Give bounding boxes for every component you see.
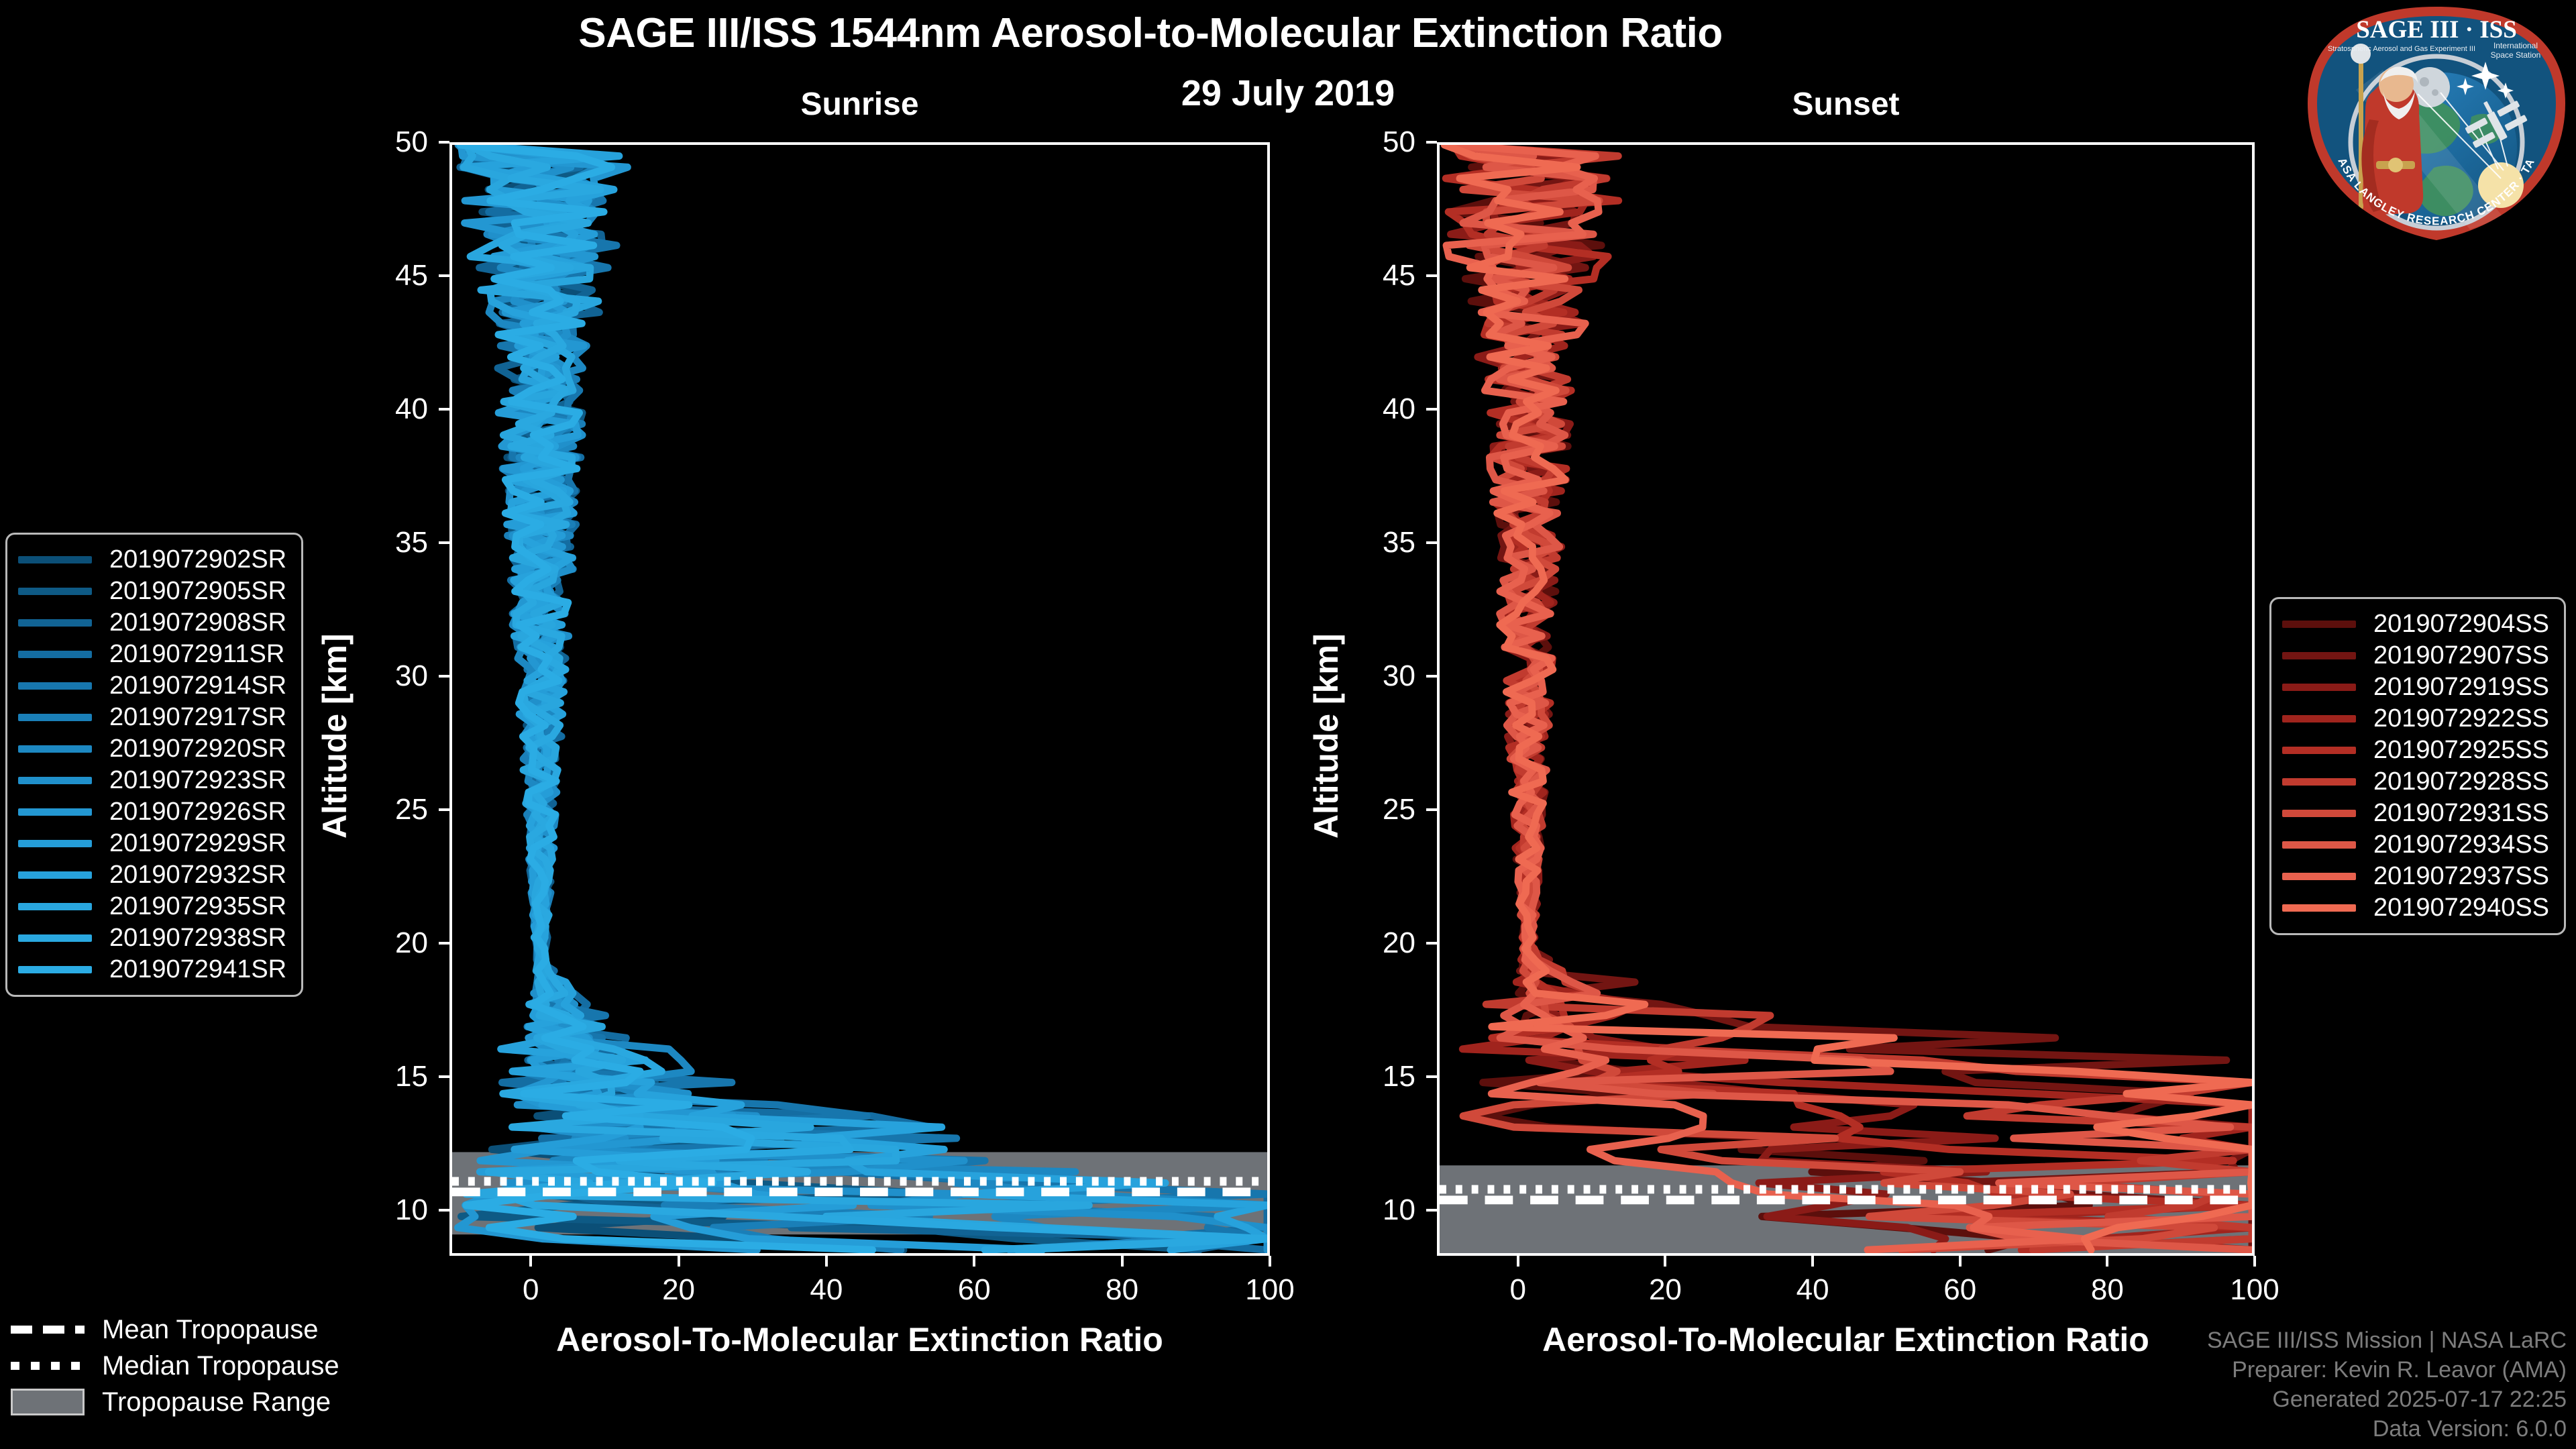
legend-item[interactable]: 2019072938SR (18, 922, 286, 954)
x-tick-mark (678, 1256, 680, 1267)
legend-item-label: 2019072920SR (109, 735, 286, 763)
legend-color-swatch (18, 556, 92, 563)
sunset-legend[interactable]: 2019072904SS 2019072907SS 2019072919SS 2… (2269, 597, 2566, 935)
legend-item-label: 2019072926SR (109, 798, 286, 826)
legend-color-swatch (2282, 652, 2356, 659)
legend-item-label: 2019072914SR (109, 672, 286, 700)
legend-color-swatch (2282, 747, 2356, 754)
y-tick-mark (1426, 541, 1437, 544)
legend-item[interactable]: 2019072922SS (2282, 703, 2549, 735)
x-tick-mark (2106, 1256, 2108, 1267)
legend-item-label: 2019072908SR (109, 608, 286, 637)
legend-item-label: 2019072938SR (109, 924, 286, 953)
legend-item[interactable]: 2019072914SR (18, 670, 286, 702)
credits-line: Generated 2025-07-17 22:25 (2207, 1385, 2567, 1414)
legend-color-swatch (2282, 715, 2356, 722)
y-tick-label: 20 (1322, 926, 1415, 960)
x-tick-label: 100 (2194, 1273, 2315, 1307)
y-tick-label: 15 (1322, 1060, 1415, 1093)
legend-color-swatch (2282, 684, 2356, 691)
y-tick-mark (439, 408, 449, 411)
legend-item-label: 2019072932SR (109, 861, 286, 890)
legend-color-swatch (18, 777, 92, 784)
logo-subtitle-right-1: International (2493, 41, 2538, 50)
y-tick-mark (439, 141, 449, 144)
legend-item-label: 2019072931SS (2373, 799, 2549, 828)
legend-item-label: 2019072925SS (2373, 736, 2549, 765)
tropopause-range-swatch (11, 1389, 85, 1415)
y-tick-label: 45 (334, 259, 428, 292)
logo-subtitle-right-2: Space Station (2491, 50, 2541, 60)
legend-item[interactable]: 2019072917SR (18, 702, 286, 733)
credits-block: SAGE III/ISS Mission | NASA LaRCPreparer… (2207, 1326, 2567, 1444)
legend-item[interactable]: 2019072929SR (18, 828, 286, 859)
credits-line: Preparer: Kevin R. Leavor (AMA) (2207, 1355, 2567, 1385)
legend-item-label: 2019072937SS (2373, 862, 2549, 891)
legend-item-label: 2019072904SS (2373, 610, 2549, 639)
legend-item-label: 2019072919SS (2373, 673, 2549, 702)
x-tick-label: 40 (1752, 1273, 1873, 1307)
sunset-y-axis-title: Altitude [km] (1307, 633, 1346, 839)
legend-color-swatch (2282, 810, 2356, 817)
y-tick-mark (439, 541, 449, 544)
sage-mission-patch-logo: SAGE III · ISS Stratospheric Aerosol and… (2302, 3, 2571, 244)
y-tick-mark (1426, 675, 1437, 678)
legend-item[interactable]: 2019072931SS (2282, 798, 2549, 829)
legend-item[interactable]: 2019072920SR (18, 733, 286, 765)
y-tick-label: 10 (1322, 1193, 1415, 1227)
x-tick-label: 20 (1605, 1273, 1725, 1307)
y-tick-mark (1426, 1209, 1437, 1212)
y-tick-mark (1426, 942, 1437, 945)
y-tick-mark (439, 1075, 449, 1078)
y-tick-mark (439, 675, 449, 678)
tropopause-legend-label: Mean Tropopause (102, 1315, 318, 1345)
y-tick-mark (439, 1209, 449, 1212)
x-tick-mark (529, 1256, 532, 1267)
legend-color-swatch (2282, 904, 2356, 912)
y-tick-mark (439, 274, 449, 277)
y-tick-label: 15 (334, 1060, 428, 1093)
x-tick-mark (1959, 1256, 1962, 1267)
y-tick-label: 40 (1322, 392, 1415, 426)
x-tick-label: 80 (2047, 1273, 2167, 1307)
legend-item[interactable]: 2019072935SR (18, 891, 286, 922)
y-tick-mark (1426, 808, 1437, 811)
y-tick-label: 45 (1322, 259, 1415, 292)
legend-color-swatch (2282, 778, 2356, 786)
legend-color-swatch (18, 651, 92, 658)
x-tick-mark (2253, 1256, 2256, 1267)
legend-color-swatch (2282, 873, 2356, 880)
sunrise-profile-chart (452, 145, 1267, 1253)
legend-color-swatch (2282, 841, 2356, 849)
x-tick-mark (1664, 1256, 1666, 1267)
x-tick-mark (1517, 1256, 1519, 1267)
legend-item[interactable]: 2019072907SS (2282, 640, 2549, 672)
legend-color-swatch (18, 588, 92, 595)
x-tick-label: 0 (470, 1273, 591, 1307)
legend-color-swatch (18, 682, 92, 690)
sunset-panel-title: Sunset (1437, 86, 2255, 123)
x-tick-label: 100 (1210, 1273, 1330, 1307)
legend-item-label: 2019072941SR (109, 955, 286, 984)
y-tick-mark (1426, 1075, 1437, 1078)
tropopause-legend[interactable]: Mean Tropopause Median Tropopause Tropop… (11, 1311, 339, 1420)
legend-color-swatch (2282, 621, 2356, 628)
legend-item-label: 2019072905SR (109, 577, 286, 606)
legend-item-label: 2019072911SR (109, 640, 284, 669)
legend-item[interactable]: 2019072940SS (2282, 892, 2549, 924)
legend-color-swatch (18, 619, 92, 627)
tropopause-legend-item[interactable]: Median Tropopause (11, 1348, 339, 1384)
y-tick-mark (1426, 141, 1437, 144)
legend-item[interactable]: 2019072911SR (18, 639, 286, 670)
legend-item[interactable]: 2019072908SR (18, 607, 286, 639)
legend-color-swatch (18, 808, 92, 816)
legend-item[interactable]: 2019072902SR (18, 544, 286, 576)
legend-color-swatch (18, 871, 92, 879)
x-tick-label: 60 (914, 1273, 1034, 1307)
x-tick-mark (973, 1256, 975, 1267)
legend-item[interactable]: 2019072919SS (2282, 672, 2549, 703)
legend-item-label: 2019072902SR (109, 545, 286, 574)
y-tick-label: 50 (1322, 125, 1415, 159)
logo-subtitle-left: Stratospheric Aerosol and Gas Experiment… (2328, 45, 2475, 53)
tropopause-legend-item[interactable]: Mean Tropopause (11, 1311, 339, 1348)
x-tick-label: 20 (619, 1273, 739, 1307)
credits-line: Data Version: 6.0.0 (2207, 1414, 2567, 1444)
y-tick-label: 35 (1322, 526, 1415, 559)
x-tick-mark (825, 1256, 828, 1267)
legend-color-swatch (18, 966, 92, 973)
legend-item-label: 2019072934SS (2373, 830, 2549, 859)
legend-item-label: 2019072928SS (2373, 767, 2549, 796)
dotted-line-swatch (11, 1362, 85, 1370)
legend-color-swatch (18, 745, 92, 753)
legend-color-swatch (18, 714, 92, 721)
x-tick-label: 80 (1062, 1273, 1183, 1307)
y-tick-label: 50 (334, 125, 428, 159)
sunset-x-axis-title: Aerosol-To-Molecular Extinction Ratio (1437, 1320, 2255, 1359)
credits-line: SAGE III/ISS Mission | NASA LaRC (2207, 1326, 2567, 1355)
legend-item-label: 2019072923SR (109, 766, 286, 795)
legend-item-label: 2019072917SR (109, 703, 286, 732)
y-tick-label: 40 (334, 392, 428, 426)
x-tick-mark (1811, 1256, 1814, 1267)
y-tick-mark (1426, 408, 1437, 411)
legend-item[interactable]: 2019072926SR (18, 796, 286, 828)
legend-item[interactable]: 2019072928SS (2282, 766, 2549, 798)
legend-item-label: 2019072922SS (2373, 704, 2549, 733)
y-tick-mark (439, 942, 449, 945)
legend-color-swatch (18, 903, 92, 910)
tropopause-legend-label: Tropopause Range (102, 1387, 331, 1417)
x-tick-label: 60 (1900, 1273, 2021, 1307)
sunrise-x-axis-title: Aerosol-To-Molecular Extinction Ratio (449, 1320, 1270, 1359)
legend-item[interactable]: 2019072937SS (2282, 861, 2549, 892)
x-tick-mark (1269, 1256, 1271, 1267)
dashed-line-swatch (11, 1326, 85, 1334)
legend-item[interactable]: 2019072923SR (18, 765, 286, 796)
x-tick-label: 0 (1458, 1273, 1578, 1307)
legend-item[interactable]: 2019072932SR (18, 859, 286, 891)
legend-item-label: 2019072940SS (2373, 894, 2549, 922)
legend-item[interactable]: 2019072941SR (18, 954, 286, 985)
tropopause-legend-label: Median Tropopause (102, 1351, 339, 1381)
sunset-plot-panel[interactable] (1437, 142, 2255, 1256)
sunrise-legend[interactable]: 2019072902SR 2019072905SR 2019072908SR 2… (5, 533, 303, 997)
legend-color-swatch (18, 840, 92, 847)
legend-item[interactable]: 2019072934SS (2282, 829, 2549, 861)
legend-item-label: 2019072935SR (109, 892, 286, 921)
page-title: SAGE III/ISS 1544nm Aerosol-to-Molecular… (0, 9, 2301, 57)
sunset-profile-chart (1440, 145, 2252, 1253)
legend-color-swatch (18, 934, 92, 942)
sunrise-y-axis-title: Altitude [km] (315, 633, 354, 839)
legend-item-label: 2019072929SR (109, 829, 286, 858)
y-tick-label: 10 (334, 1193, 428, 1227)
tropopause-legend-item[interactable]: Tropopause Range (11, 1384, 339, 1420)
legend-item[interactable]: 2019072904SS (2282, 608, 2549, 640)
legend-item[interactable]: 2019072925SS (2282, 735, 2549, 766)
logo-title: SAGE III · ISS (2356, 16, 2517, 44)
sunrise-panel-title: Sunrise (449, 86, 1270, 123)
y-tick-label: 20 (334, 926, 428, 960)
y-tick-mark (439, 808, 449, 811)
y-tick-label: 35 (334, 526, 428, 559)
legend-item[interactable]: 2019072905SR (18, 576, 286, 607)
x-tick-mark (1121, 1256, 1124, 1267)
legend-item-label: 2019072907SS (2373, 641, 2549, 670)
x-tick-label: 40 (766, 1273, 887, 1307)
y-tick-mark (1426, 274, 1437, 277)
sunrise-plot-panel[interactable] (449, 142, 1270, 1256)
